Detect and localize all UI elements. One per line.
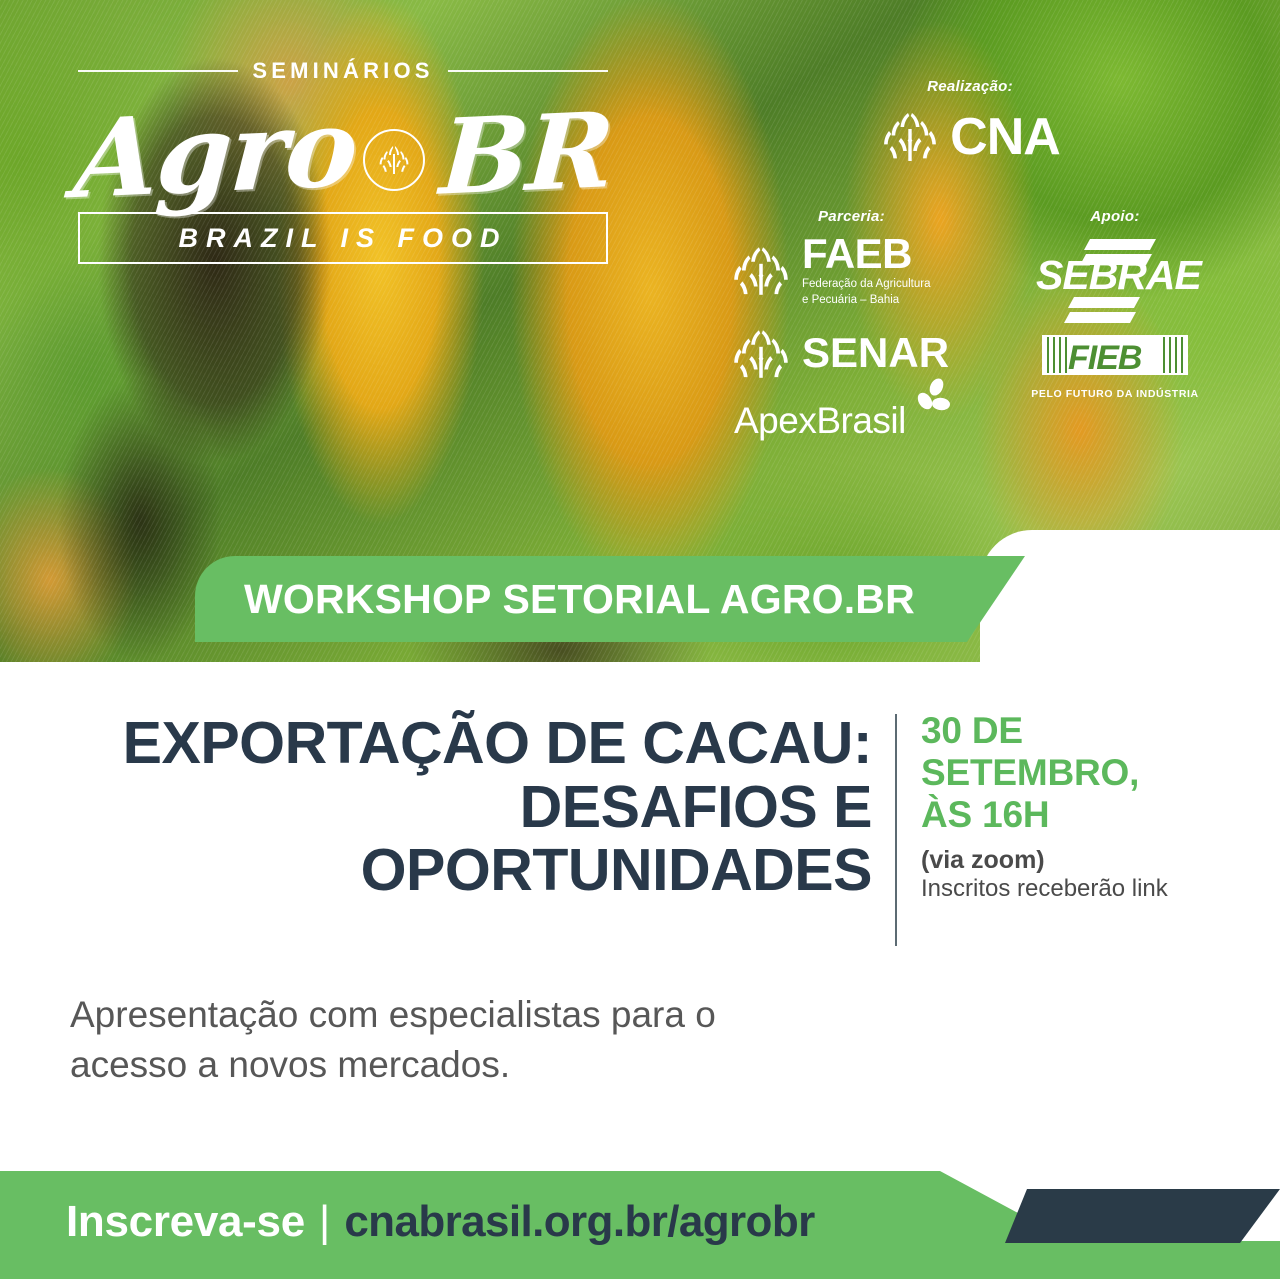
agro-word: Agro bbox=[71, 94, 359, 214]
event-platform: (via zoom) bbox=[921, 847, 1261, 875]
footer-bar: Inscreva-se | cnabrasil.org.br/agrobr bbox=[0, 1157, 1280, 1279]
agrobr-wordmark: Agro bbox=[78, 88, 608, 220]
footer-cta-row[interactable]: Inscreva-se | cnabrasil.org.br/agrobr bbox=[66, 1197, 815, 1247]
workshop-banner: WORKSHOP SETORIAL AGRO.BR bbox=[195, 556, 1025, 642]
rule-left bbox=[78, 70, 238, 72]
footer-url-link[interactable]: cnabrasil.org.br/agrobr bbox=[344, 1197, 814, 1247]
event-title-line-3: OPORTUNIDADES bbox=[60, 839, 872, 903]
event-date-line-2: SETEMBRO, bbox=[921, 752, 1261, 794]
cna-logo: CNA bbox=[850, 107, 1090, 167]
brazil-is-food-box: BRAZIL IS FOOD bbox=[78, 212, 608, 264]
fieb-subtitle: PELO FUTURO DA INDÚSTRIA bbox=[1000, 388, 1230, 400]
poster-root: SEMINÁRIOS Agro bbox=[0, 0, 1280, 1279]
seminarios-row: SEMINÁRIOS bbox=[78, 58, 608, 84]
faeb-subtitle-line2: e Pecuária – Bahia bbox=[802, 293, 931, 307]
footer-cta-label: Inscreva-se bbox=[66, 1197, 305, 1247]
event-description-line-1: Apresentação com especialistas para o bbox=[70, 990, 930, 1040]
agrobr-logo-lockup: SEMINÁRIOS Agro bbox=[78, 58, 608, 293]
seminarios-label: SEMINÁRIOS bbox=[238, 58, 447, 84]
svg-text:SEBRAE: SEBRAE bbox=[1036, 252, 1203, 298]
fieb-box-icon: FIEB bbox=[1040, 333, 1190, 385]
vertical-divider bbox=[895, 714, 897, 946]
footer-navy-shape bbox=[1005, 1189, 1280, 1243]
content-section: EXPORTAÇÃO DE CACAU: DESAFIOS E OPORTUNI… bbox=[0, 662, 1280, 1157]
sebrae-logo: SEBRAE bbox=[1000, 237, 1230, 325]
cna-label: CNA bbox=[950, 111, 1060, 163]
hero-white-corner bbox=[980, 530, 1280, 662]
faeb-words: FAEB Federação da Agricultura e Pecuária… bbox=[802, 233, 931, 308]
senar-wheat-icon bbox=[730, 322, 792, 384]
event-description: Apresentação com especialistas para o ac… bbox=[70, 990, 930, 1090]
apex-logo: ApexBrasil bbox=[730, 402, 990, 439]
event-title-line-2: DESAFIOS E bbox=[60, 776, 872, 840]
footer-separator: | bbox=[319, 1197, 330, 1247]
apex-label: ApexBrasil bbox=[734, 400, 906, 441]
event-details: 30 DE SETEMBRO, ÀS 16H (via zoom) Inscri… bbox=[921, 710, 1261, 903]
event-title-line-1: EXPORTAÇÃO DE CACAU: bbox=[60, 712, 872, 776]
event-date-line-1: 30 DE bbox=[921, 710, 1261, 752]
event-date-line-3: ÀS 16H bbox=[921, 794, 1261, 836]
faeb-subtitle-line1: Federação da Agricultura bbox=[802, 277, 931, 291]
faeb-label: FAEB bbox=[802, 233, 931, 275]
cna-wheat-icon bbox=[880, 107, 940, 167]
apex-pinwheel-icon bbox=[912, 376, 954, 418]
tagline-label: BRAZIL IS FOOD bbox=[178, 223, 507, 254]
workshop-banner-label: WORKSHOP SETORIAL AGRO.BR bbox=[195, 576, 915, 623]
realizacao-block: Realização: bbox=[850, 78, 1090, 167]
sebrae-bars-icon: SEBRAE bbox=[1028, 237, 1203, 325]
parceria-label: Parceria: bbox=[730, 208, 990, 225]
event-title: EXPORTAÇÃO DE CACAU: DESAFIOS E OPORTUNI… bbox=[60, 712, 872, 903]
faeb-logo: FAEB Federação da Agricultura e Pecuária… bbox=[730, 233, 990, 308]
senar-logo: SENAR bbox=[730, 322, 990, 384]
realizacao-label: Realização: bbox=[850, 78, 1090, 95]
senar-label: SENAR bbox=[802, 332, 949, 374]
parceria-block: Parceria: bbox=[730, 208, 990, 439]
svg-text:FIEB: FIEB bbox=[1068, 339, 1142, 377]
br-word: BR bbox=[437, 98, 614, 209]
faeb-wheat-icon bbox=[730, 239, 792, 301]
apoio-label: Apoio: bbox=[1000, 208, 1230, 225]
event-registration-note: Inscritos receberão link bbox=[921, 875, 1261, 903]
partner-logos: Realização: bbox=[700, 78, 1240, 498]
rule-right bbox=[448, 70, 608, 72]
fieb-logo: FIEB PELO FUTURO DA INDÚSTRIA bbox=[1000, 333, 1230, 400]
event-description-line-2: acesso a novos mercados. bbox=[70, 1040, 930, 1090]
apoio-block: Apoio: SEBRAE bbox=[1000, 208, 1230, 400]
wheat-seal-icon bbox=[363, 129, 425, 191]
